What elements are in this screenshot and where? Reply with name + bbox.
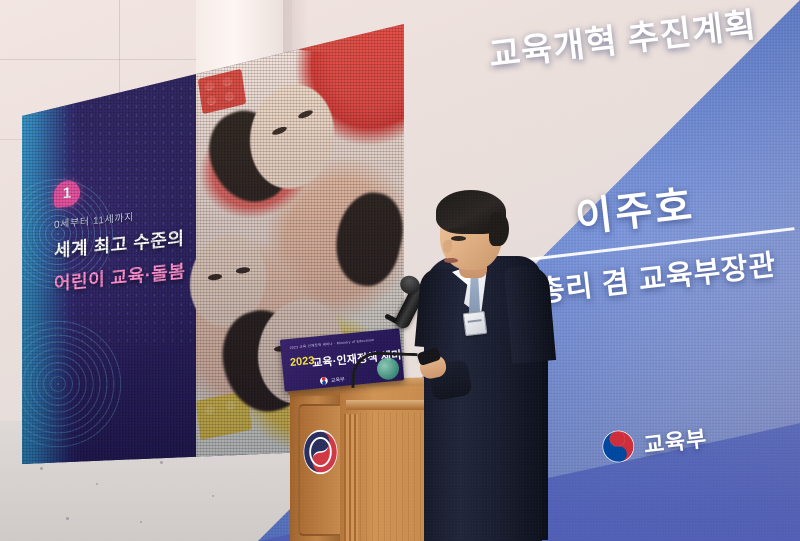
speaker-name-badge: [463, 311, 488, 337]
taegeuk-icon: [600, 428, 637, 465]
speaker-right-shoulder: [504, 264, 556, 363]
speaker-hair-side: [489, 212, 509, 246]
podium-sign-ministry-label: 교육부: [331, 375, 345, 383]
press-photo-scene: 교육개혁 추진계획 이주호 부총리 겸 교육부장관 교육부: [0, 0, 800, 541]
speaker-eye: [451, 236, 466, 241]
speaker-mouth: [444, 258, 458, 263]
microphone-gooseneck: [351, 351, 417, 390]
taegeuk-emblem-icon: [302, 428, 339, 476]
podium-fluting: [344, 414, 358, 541]
podium-sign-ministry-logo: 교육부: [320, 375, 345, 385]
speaker-nose: [443, 240, 452, 253]
podium-sign-microtext: 2023 교육·인재정책 세미나 · Ministry of Education: [289, 337, 374, 350]
taegeuk-icon: [320, 376, 329, 385]
speaker-left-shoulder: [415, 266, 462, 349]
ministry-logo-label: 교육부: [642, 420, 709, 459]
